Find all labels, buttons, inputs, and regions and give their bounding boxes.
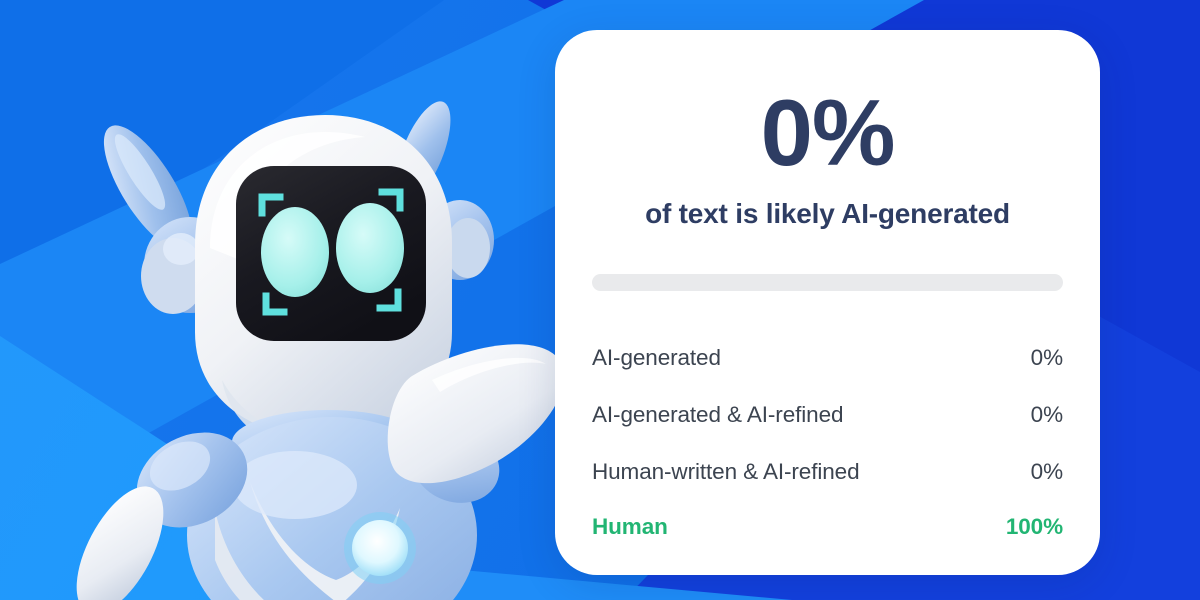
breakdown-row-ai-generated-ai-refined: AI-generated & AI-refined 0% — [592, 386, 1063, 443]
breakdown-row-human-written-ai-refined: Human-written & AI-refined 0% — [592, 443, 1063, 500]
breakdown-row-ai-generated: AI-generated 0% — [592, 329, 1063, 386]
breakdown-value: 0% — [1031, 345, 1063, 371]
detection-result-card: 0% of text is likely AI-generated AI-gen… — [555, 30, 1100, 575]
breakdown-row-human: Human 100% — [592, 500, 1063, 554]
robot-eye-right — [336, 203, 404, 293]
breakdown-value: 100% — [1006, 514, 1063, 540]
breakdown-label: Human-written & AI-refined — [592, 459, 860, 485]
breakdown-label: AI-generated & AI-refined — [592, 402, 843, 428]
breakdown-value: 0% — [1031, 459, 1063, 485]
robot-chest-light — [344, 512, 416, 584]
ai-robot-mascot — [40, 80, 580, 600]
ai-score-headline: 0% — [592, 30, 1063, 180]
promo-banner: 0% of text is likely AI-generated AI-gen… — [0, 0, 1200, 600]
ai-score-subtitle: of text is likely AI-generated — [592, 180, 1063, 230]
breakdown-value: 0% — [1031, 402, 1063, 428]
breakdown-list: AI-generated 0% AI-generated & AI-refine… — [592, 329, 1063, 554]
robot-eye-left — [261, 207, 329, 297]
breakdown-label: AI-generated — [592, 345, 721, 371]
breakdown-label: Human — [592, 514, 668, 540]
ai-score-progress-bar — [592, 274, 1063, 291]
